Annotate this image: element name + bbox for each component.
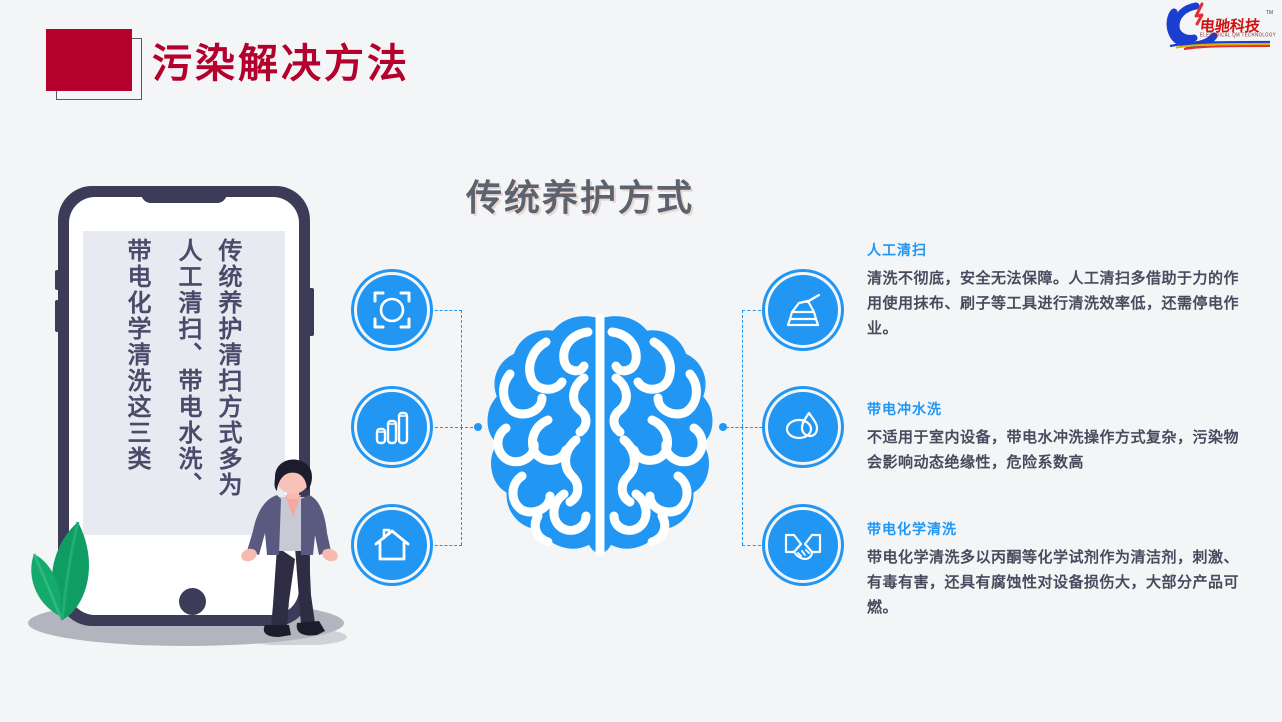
water-drop-icon <box>783 407 823 447</box>
info-block-body: 不适用于室内设备，带电水冲洗操作方式复杂，污染物会影响动态绝缘性，危险系数高 <box>867 425 1247 475</box>
page-title: 污染解决方法 <box>152 38 410 90</box>
handshake-icon-button[interactable] <box>768 510 838 580</box>
phone-vertical-text-line-2: 人工清扫、带电水洗、 <box>175 238 199 498</box>
phone-vertical-text-line-3: 带电化学清洗这三类 <box>124 238 148 472</box>
connector-left-3-horizontal <box>430 545 462 546</box>
phone-volume-up-button[interactable] <box>55 270 59 290</box>
handshake-icon <box>783 525 823 565</box>
connector-right-node-dot <box>719 423 727 431</box>
logo-company-name-en: ELECTRICAL QM TECHNOLOGY <box>1200 32 1276 38</box>
company-logo: 电驰科技 ELECTRICAL QM TECHNOLOGY TM <box>1166 2 1274 50</box>
header-accent-square <box>46 29 132 91</box>
info-block-heading: 人工清扫 <box>867 240 1247 260</box>
home-icon-button[interactable] <box>357 510 427 580</box>
person-illustration <box>233 455 353 645</box>
phone-power-button[interactable] <box>309 288 314 336</box>
connector-left-node-dot <box>474 423 482 431</box>
info-block-body: 带电化学清洗多以丙酮等化学试剂作为清洁剂，刺激、有毒有害，还具有腐蚀性对设备损伤… <box>867 545 1247 620</box>
connector-left-vertical-lower <box>461 427 462 545</box>
section-title: 传统养护方式 <box>466 169 694 221</box>
broom-icon-button[interactable] <box>768 275 838 345</box>
info-block-body: 清洗不彻底，安全无法保障。人工清扫多借助于力的作用使用抹布、刷子等工具进行清洗效… <box>867 266 1247 341</box>
bar-chart-icon <box>372 407 412 447</box>
phone-notch <box>141 186 227 203</box>
phone-volume-down-button[interactable] <box>55 300 59 332</box>
scan-focus-icon <box>372 290 412 330</box>
phone-home-button[interactable] <box>179 588 206 615</box>
info-block-manual-cleaning: 人工清扫 清洗不彻底，安全无法保障。人工清扫多借助于力的作用使用抹布、刷子等工具… <box>867 240 1247 341</box>
connector-right-2-horizontal <box>726 427 772 428</box>
decorative-leaves <box>20 520 140 630</box>
scan-focus-icon-button[interactable] <box>357 275 427 345</box>
brain-illustration <box>476 308 724 580</box>
connector-right-vertical-lower <box>742 427 743 545</box>
water-drop-icon-button[interactable] <box>768 392 838 462</box>
info-block-heading: 带电冲水洗 <box>867 399 1247 419</box>
info-block-heading: 带电化学清洗 <box>867 519 1247 539</box>
bar-chart-icon-button[interactable] <box>357 392 427 462</box>
connector-left-vertical <box>461 310 462 427</box>
info-block-live-chemical-cleaning: 带电化学清洗 带电化学清洗多以丙酮等化学试剂作为清洁剂，刺激、有毒有害，还具有腐… <box>867 519 1247 620</box>
connector-right-vertical <box>742 310 743 427</box>
logo-trademark-symbol: TM <box>1266 10 1273 16</box>
broom-icon <box>783 290 823 330</box>
connector-left-1-horizontal <box>430 310 462 311</box>
slide-canvas: 污染解决方法 电驰科技 ELECTRICAL QM TECHNOLOGY TM … <box>0 0 1282 722</box>
connector-left-2-horizontal <box>430 427 478 428</box>
info-block-live-water-wash: 带电冲水洗 不适用于室内设备，带电水冲洗操作方式复杂，污染物会影响动态绝缘性，危… <box>867 399 1247 475</box>
home-icon <box>372 525 412 565</box>
